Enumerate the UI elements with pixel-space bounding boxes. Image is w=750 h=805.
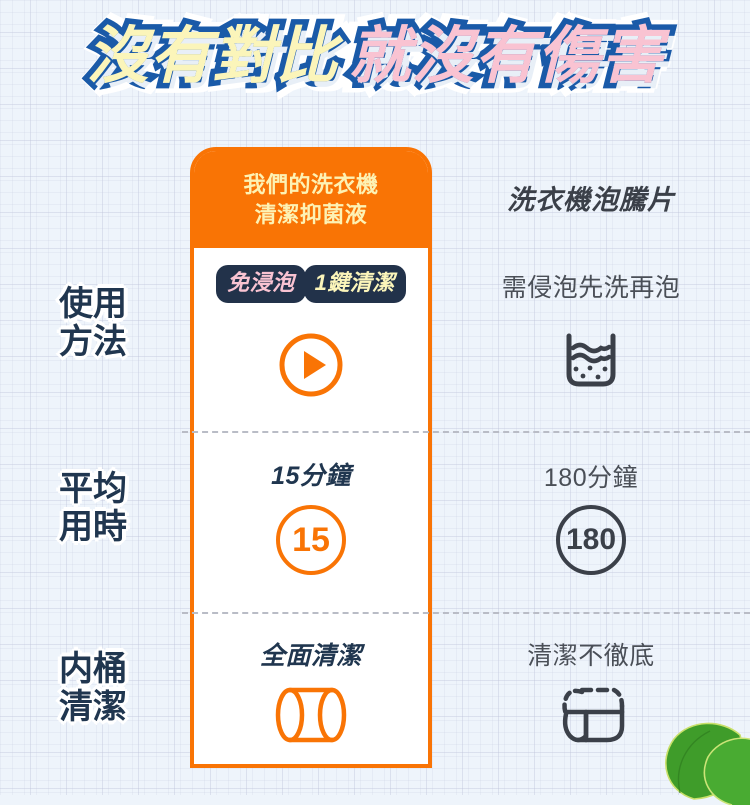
timer-circle-icon-ours: 15 xyxy=(190,505,432,575)
play-circle-icon xyxy=(190,332,432,398)
badge-one-click-clean: 1鍵清潔 xyxy=(307,268,403,300)
timer-circle-icon-theirs: 180 xyxy=(432,505,750,575)
competitor-column-header: 洗衣機泡騰片 xyxy=(432,178,750,217)
page-title-part1: 沒有對比 xyxy=(86,24,338,89)
row-divider-2 xyxy=(182,612,750,614)
row-label-usage: 使用 方法 xyxy=(0,285,186,361)
row-divider-1 xyxy=(182,431,750,433)
theirs-time-text: 180分鐘 xyxy=(432,458,750,494)
product-card-header-line2: 清潔抑菌液 xyxy=(255,200,368,229)
row-label-time: 平均 用時 xyxy=(0,470,186,546)
theirs-drum-text: 清潔不徹底 xyxy=(432,636,750,672)
ours-usage-badges: 免浸泡 1鍵清潔 xyxy=(190,268,432,300)
row-label-drum-line2: 清潔 xyxy=(0,688,186,726)
theirs-usage-text: 需侵泡先洗再泡 xyxy=(432,268,750,304)
row-label-time-line1: 平均 xyxy=(0,470,186,508)
badge-no-soak: 免浸泡 xyxy=(219,268,303,300)
ours-drum-text: 全面清潔 xyxy=(190,636,432,672)
row-label-usage-line1: 使用 xyxy=(0,285,186,323)
row-label-drum-line1: 内桶 xyxy=(0,650,186,688)
leaf-decoration xyxy=(636,695,750,805)
row-label-usage-line2: 方法 xyxy=(0,323,186,361)
soak-basin-icon xyxy=(432,330,750,392)
row-label-drum: 内桶 清潔 xyxy=(0,650,186,726)
page-title-part2: 就沒有傷害 xyxy=(349,24,664,89)
ours-time-value: 15 xyxy=(276,505,346,575)
ours-time-text: 15分鐘 xyxy=(190,456,432,492)
product-card-header-line1: 我們的洗衣機 xyxy=(243,170,378,199)
page-title: 沒有對比就沒有傷害 xyxy=(0,24,750,89)
row-label-time-line2: 用時 xyxy=(0,508,186,546)
drum-full-icon xyxy=(190,684,432,746)
product-card-header: 我們的洗衣機 清潔抑菌液 xyxy=(194,151,428,248)
theirs-time-value: 180 xyxy=(556,505,626,575)
